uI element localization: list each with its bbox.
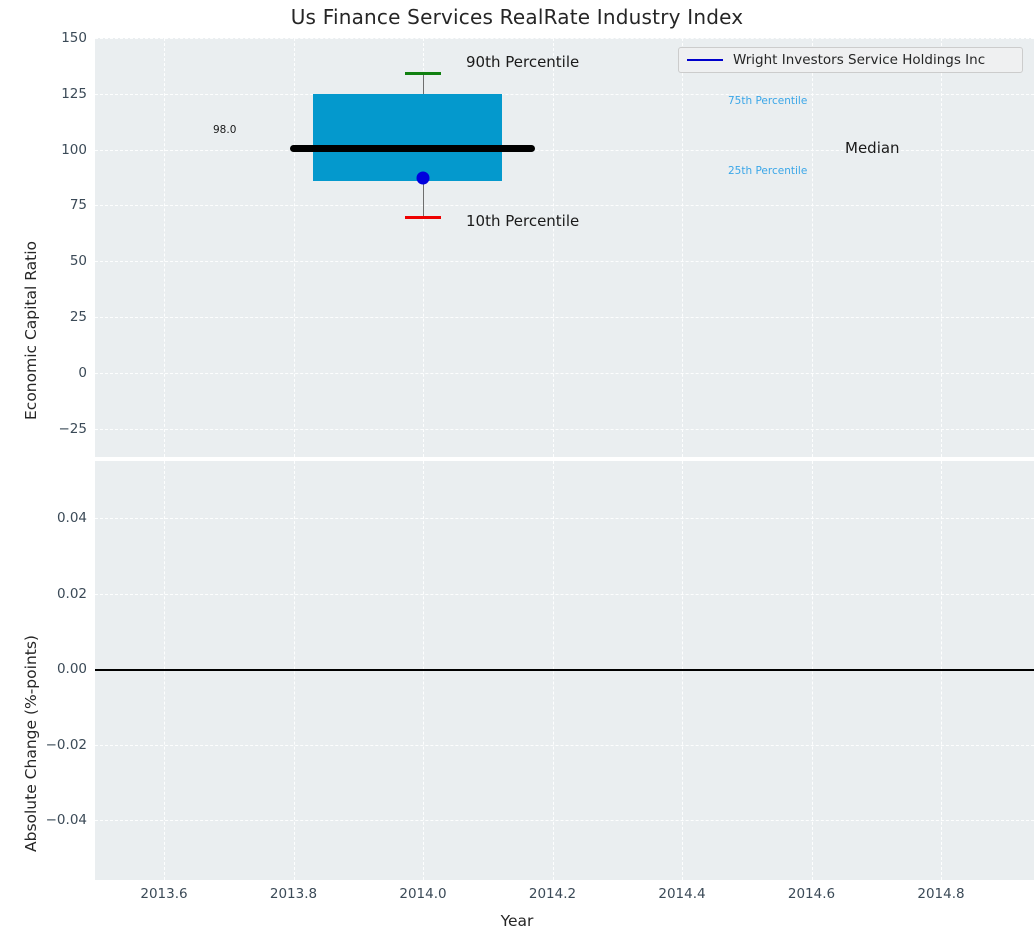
plot-area-economic-capital-ratio: 98.0 90th Percentile 75th Percentile Med… (95, 38, 1034, 457)
gridline-y-minus0-04 (95, 820, 1034, 821)
annotation-p10: 10th Percentile (466, 212, 579, 230)
ytick-bottom-2: 0.00 (7, 661, 87, 677)
ytick-top-3: 75 (7, 197, 87, 213)
box-interquartile-range (313, 94, 502, 181)
ytick-top-1: 125 (7, 86, 87, 102)
gridline-x-2014-8 (941, 38, 942, 457)
company-marker-point[interactable] (417, 172, 430, 185)
chart-legend[interactable]: Wright Investors Service Holdings Inc (678, 47, 1023, 73)
gridline-x-2014-2 (553, 38, 554, 457)
xtick-0: 2013.6 (109, 886, 219, 902)
ytick-bottom-0: 0.04 (7, 510, 87, 526)
gridline-y-75 (95, 205, 1034, 206)
median-line (290, 145, 535, 152)
xtick-4: 2014.4 (627, 886, 737, 902)
ytick-top-2: 100 (7, 142, 87, 158)
ytick-top-4: 50 (7, 253, 87, 269)
x-axis-label: Year (0, 912, 1034, 930)
gridline-y-0-04 (95, 518, 1034, 519)
ytick-bottom-3: −0.02 (7, 737, 87, 753)
gridline-x-2014-4 (682, 38, 683, 457)
gridline-y-50 (95, 261, 1034, 262)
zero-reference-line (95, 669, 1034, 671)
ytick-top-6: 0 (7, 365, 87, 381)
ytick-top-0: 150 (7, 30, 87, 46)
annotation-p25: 25th Percentile (728, 165, 807, 177)
chart-figure: Us Finance Services RealRate Industry In… (0, 0, 1034, 942)
y-axis-label-top: Economic Capital Ratio (22, 241, 40, 420)
y-axis-label-bottom: Absolute Change (%-points) (22, 635, 40, 852)
whisker-cap-p90 (405, 72, 441, 75)
plot-area-absolute-change (95, 461, 1034, 880)
xtick-1: 2013.8 (239, 886, 349, 902)
annotation-p75: 75th Percentile (728, 95, 807, 107)
median-value-label: 98.0 (213, 124, 236, 136)
gridline-y-25 (95, 317, 1034, 318)
ytick-top-7: −25 (7, 421, 87, 437)
gridline-y-minus0-02 (95, 745, 1034, 746)
ytick-bottom-4: −0.04 (7, 812, 87, 828)
legend-line-swatch-icon (687, 59, 723, 61)
gridline-y-150 (95, 38, 1034, 39)
ytick-top-5: 25 (7, 309, 87, 325)
gridline-y-minus25 (95, 429, 1034, 430)
ytick-bottom-1: 0.02 (7, 586, 87, 602)
annotation-median: Median (845, 139, 900, 157)
xtick-6: 2014.8 (886, 886, 996, 902)
xtick-5: 2014.6 (757, 886, 867, 902)
whisker-cap-p10 (405, 216, 441, 219)
gridline-x-2013-6 (164, 38, 165, 457)
gridline-x-2013-8 (294, 38, 295, 457)
chart-title: Us Finance Services RealRate Industry In… (0, 5, 1034, 29)
gridline-y-0-02 (95, 594, 1034, 595)
legend-entry-label: Wright Investors Service Holdings Inc (733, 52, 985, 68)
gridline-x-2014-6 (812, 38, 813, 457)
gridline-y-125 (95, 94, 1034, 95)
gridline-y-0 (95, 373, 1034, 374)
xtick-2: 2014.0 (368, 886, 478, 902)
annotation-p90: 90th Percentile (466, 53, 579, 71)
xtick-3: 2014.2 (498, 886, 608, 902)
